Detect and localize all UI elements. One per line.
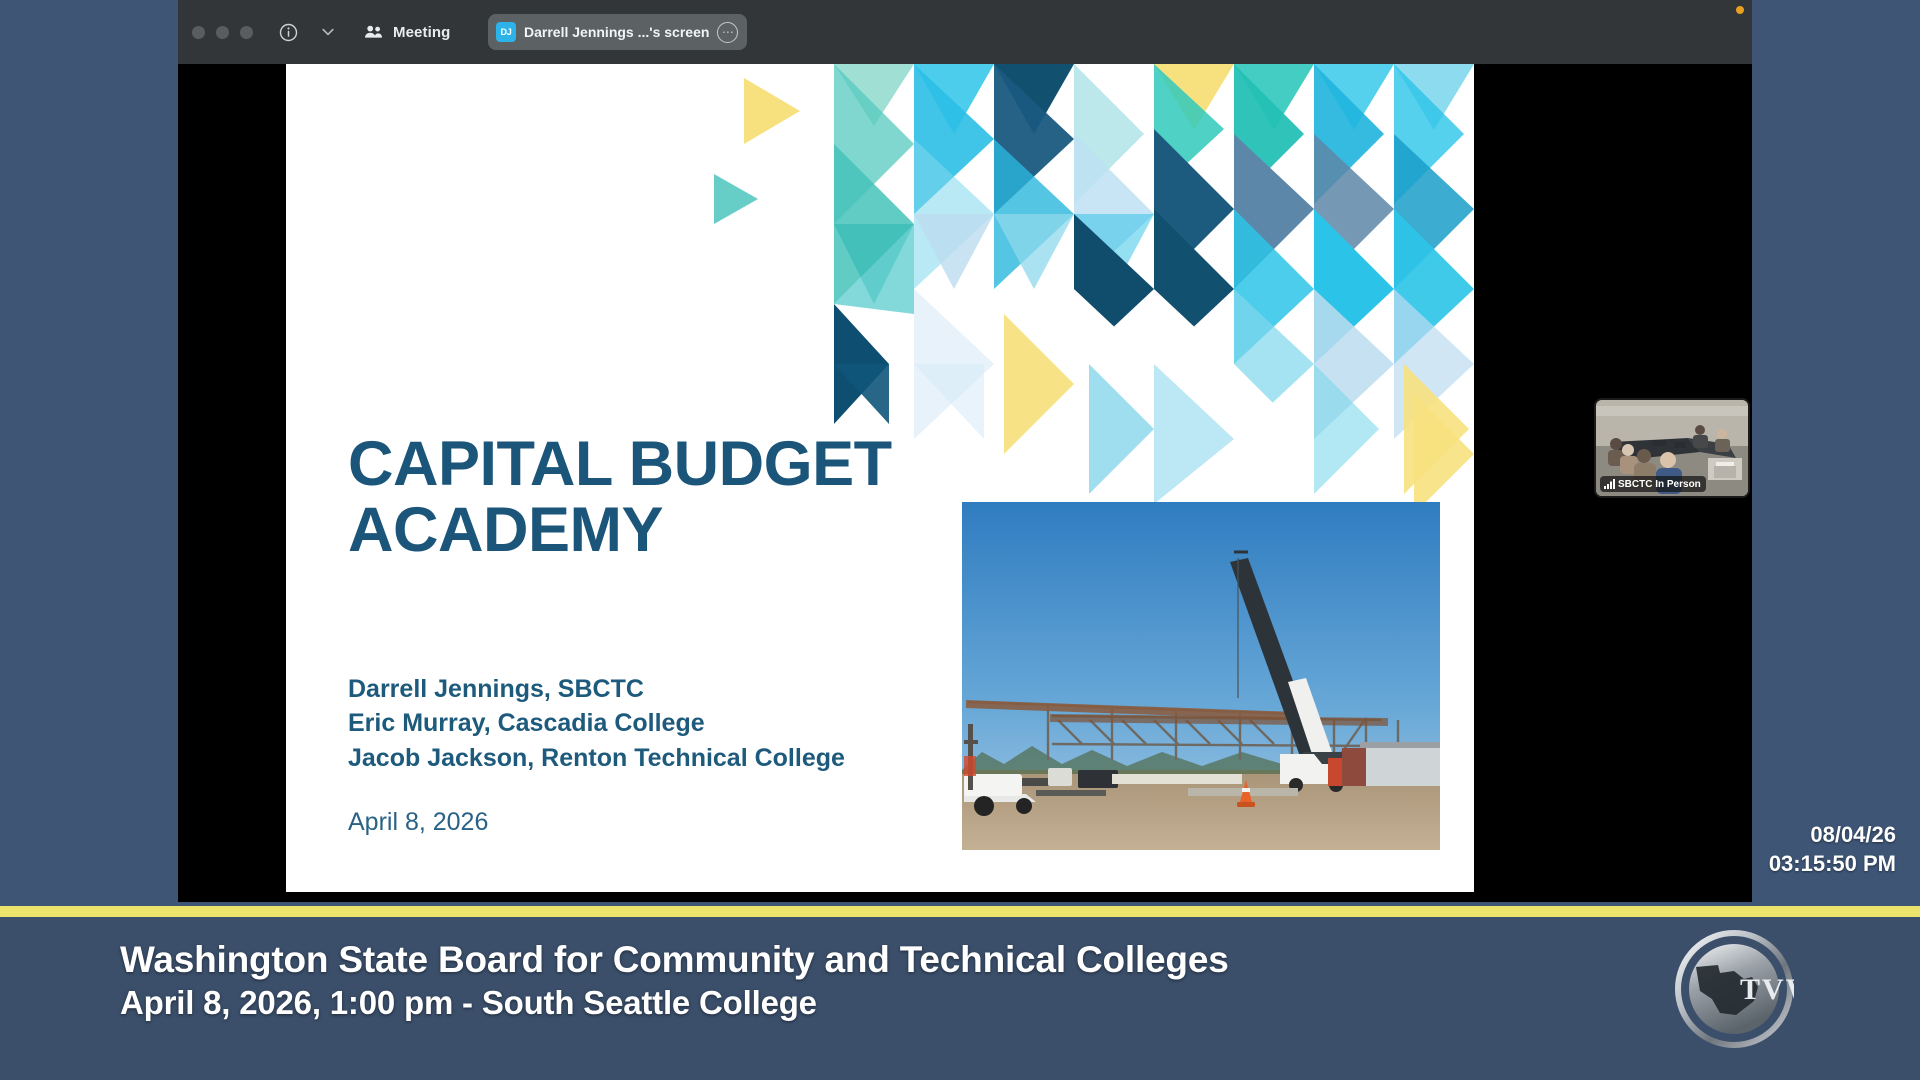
meeting-label: Meeting bbox=[393, 24, 450, 41]
participant-thumbnail[interactable]: SBCTC In Person bbox=[1594, 398, 1750, 498]
info-icon[interactable] bbox=[279, 23, 298, 42]
tvw-logo-text: TVW bbox=[1740, 973, 1794, 1006]
broadcast-stage: Meeting DJ Darrell Jennings ...'s screen… bbox=[0, 0, 1920, 1080]
participant-name-label: SBCTC In Person bbox=[1618, 479, 1701, 490]
more-options-icon[interactable]: ⋯ bbox=[717, 22, 738, 43]
presenter-avatar: DJ bbox=[496, 22, 516, 42]
recording-dot-icon bbox=[1736, 6, 1744, 14]
participant-name-badge: SBCTC In Person bbox=[1600, 476, 1706, 492]
zoom-titlebar: Meeting DJ Darrell Jennings ...'s screen… bbox=[178, 0, 1752, 64]
banner-text: Washington State Board for Community and… bbox=[120, 939, 1229, 1022]
minimize-window-button[interactable] bbox=[216, 26, 229, 39]
clock-time: 03:15:50 PM bbox=[1769, 849, 1896, 878]
window-traffic-lights[interactable] bbox=[192, 26, 253, 39]
accent-rule bbox=[0, 906, 1920, 917]
lower-third-banner: Washington State Board for Community and… bbox=[0, 917, 1920, 1080]
screen-share-label: Darrell Jennings ...'s screen bbox=[524, 24, 709, 40]
presentation-slide: CAPITAL BUDGET ACADEMY Darrell Jennings,… bbox=[286, 64, 1474, 892]
clock-date: 08/04/26 bbox=[1769, 820, 1896, 849]
slide-date: April 8, 2026 bbox=[348, 807, 488, 837]
maximize-window-button[interactable] bbox=[240, 26, 253, 39]
close-window-button[interactable] bbox=[192, 26, 205, 39]
presenter-1: Darrell Jennings, SBCTC bbox=[348, 672, 1028, 706]
zoom-meeting-window: Meeting DJ Darrell Jennings ...'s screen… bbox=[178, 0, 1752, 902]
participants-icon[interactable] bbox=[364, 24, 384, 40]
banner-title: Washington State Board for Community and… bbox=[120, 939, 1229, 981]
chevron-down-icon[interactable] bbox=[320, 24, 336, 40]
presenter-3: Jacob Jackson, Renton Technical College bbox=[348, 741, 1028, 775]
presenter-2: Eric Murray, Cascadia College bbox=[348, 706, 1028, 740]
presenter-list: Darrell Jennings, SBCTC Eric Murray, Cas… bbox=[348, 672, 1028, 775]
construction-site-photo bbox=[962, 502, 1440, 850]
signal-strength-icon bbox=[1604, 479, 1615, 489]
banner-subtitle: April 8, 2026, 1:00 pm - South Seattle C… bbox=[120, 983, 1229, 1023]
slide-title: CAPITAL BUDGET ACADEMY bbox=[348, 432, 988, 563]
screen-share-indicator[interactable]: DJ Darrell Jennings ...'s screen ⋯ bbox=[488, 14, 747, 50]
tvw-logo: TVW bbox=[1674, 929, 1794, 1049]
shared-screen-area: CAPITAL BUDGET ACADEMY Darrell Jennings,… bbox=[178, 64, 1752, 902]
broadcast-clock: 08/04/26 03:15:50 PM bbox=[1769, 820, 1896, 879]
